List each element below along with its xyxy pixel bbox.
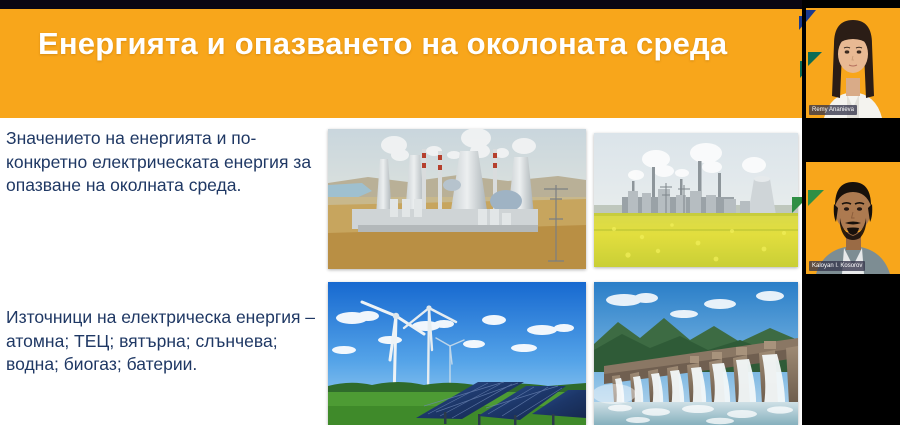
slide-image-wind-turbines-solar-panels [328, 282, 586, 425]
slide-paragraph-2: Източници на електрическа енергия – атом… [6, 306, 324, 377]
slide-paragraph-1: Значението на енергията и по-конкретно е… [6, 127, 324, 198]
participant-video-rail: Remy Ananieva [802, 0, 900, 425]
participant-name-badge-1: Remy Ananieva [809, 105, 857, 115]
rail-gap-bottom [802, 274, 900, 425]
triangle-green-icon [792, 197, 802, 213]
participant-tile-2[interactable]: Kaloyan I. Kosorov [806, 162, 900, 274]
slide-body: Значението на енергията и по-конкретно е… [0, 118, 802, 425]
rail-gap-middle [802, 118, 900, 162]
participant-name-badge-2: Kaloyan I. Kosorov [809, 261, 865, 271]
slide-title: Енергията и опазването на околоната сред… [38, 25, 748, 63]
participant-tile-1[interactable]: Remy Ananieva [806, 8, 900, 118]
slide-title-banner: Енергията и опазването на околоната сред… [0, 9, 802, 118]
slide-image-hydroelectric-dam [594, 282, 798, 425]
shared-screen-slide: Енергията и опазването на околоната сред… [0, 0, 802, 425]
slide-top-bar [0, 0, 802, 9]
rail-gap-top [802, 0, 900, 8]
slide-image-thermal-nuclear-power-plant [328, 129, 586, 269]
slide-image-power-plant-rapeseed-field [594, 133, 798, 267]
meeting-screen: Енергията и опазването на околоната сред… [0, 0, 900, 425]
